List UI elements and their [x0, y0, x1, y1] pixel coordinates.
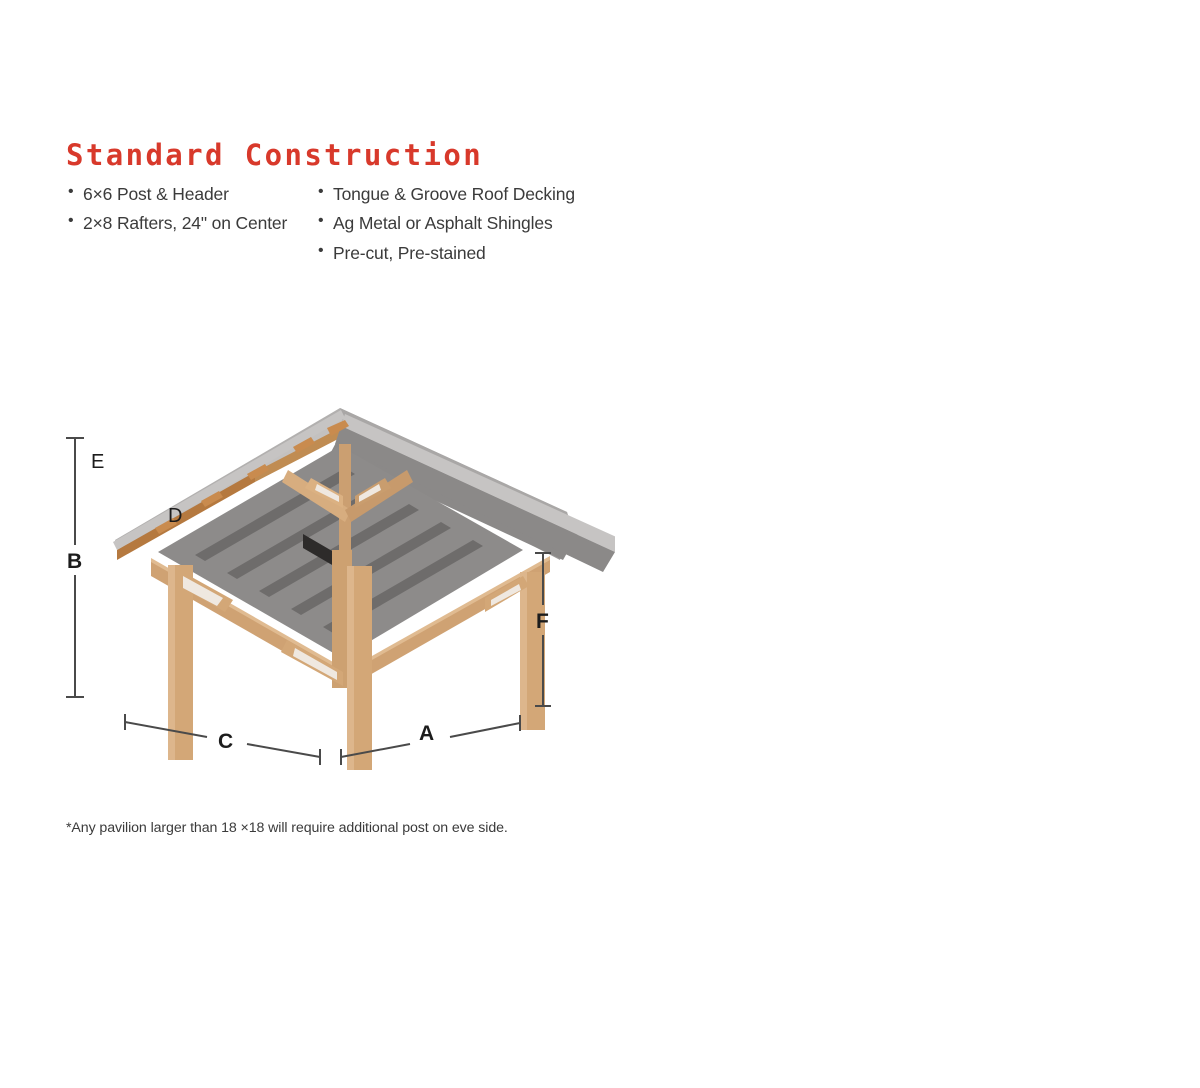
diagram-label-C: C: [218, 730, 233, 753]
feature-column-2: Tongue & Groove Roof Decking Ag Metal or…: [316, 180, 606, 268]
list-item: 6×6 Post & Header: [66, 180, 316, 208]
diagram-label-E: E: [91, 451, 104, 473]
standard-construction-section: Standard Construction 6×6 Post & Header …: [0, 0, 640, 1000]
list-item: 2×8 Rafters, 24" on Center: [66, 209, 316, 237]
pavilion-diagram: E B D F C A: [55, 400, 615, 770]
post-center-front-highlight: [347, 566, 354, 770]
post-right-highlight: [520, 572, 527, 730]
feature-list-1: 6×6 Post & Header 2×8 Rafters, 24" on Ce…: [66, 180, 316, 238]
footnote-text: *Any pavilion larger than 18 ×18 will re…: [66, 820, 508, 836]
feature-list-2: Tongue & Groove Roof Decking Ag Metal or…: [316, 180, 606, 267]
specifications-section: Specifications AVAILABLE SIZES: 10' 12' …: [640, 0, 1200, 1000]
list-item: Ag Metal or Asphalt Shingles: [316, 209, 606, 237]
diagram-label-A: A: [419, 722, 434, 745]
diagram-label-B: B: [67, 550, 82, 573]
dim-C-left: [125, 722, 207, 737]
dim-A-right: [450, 723, 520, 737]
dim-C-right: [247, 744, 320, 757]
list-item: Tongue & Groove Roof Decking: [316, 180, 606, 208]
standard-construction-title: Standard Construction: [66, 138, 483, 172]
diagram-label-D: D: [168, 505, 182, 527]
feature-lists: 6×6 Post & Header 2×8 Rafters, 24" on Ce…: [66, 180, 606, 268]
diagram-label-F: F: [536, 610, 549, 633]
list-item: Pre-cut, Pre-stained: [316, 239, 606, 267]
page-root: Standard Construction 6×6 Post & Header …: [0, 0, 1200, 1000]
feature-column-1: 6×6 Post & Header 2×8 Rafters, 24" on Ce…: [66, 180, 316, 268]
